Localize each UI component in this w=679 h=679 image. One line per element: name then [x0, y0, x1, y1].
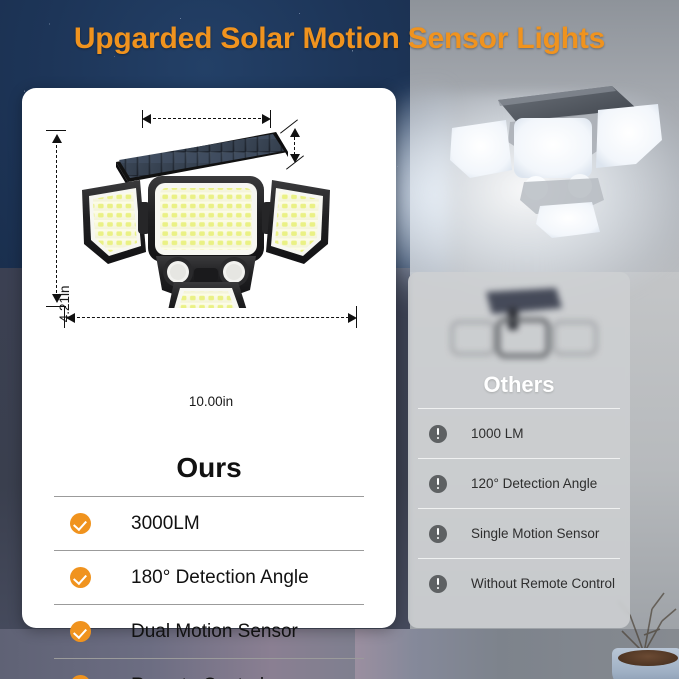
- dim-cap-left-bottom: [46, 306, 66, 307]
- others-feature-row: Single Motion Sensor: [418, 508, 620, 558]
- ours-feature-row: 180° Detection Angle: [54, 550, 364, 604]
- ours-feature-label: 3000LM: [131, 513, 200, 535]
- competitor-light-photo: [408, 282, 630, 370]
- others-feature-label: 120° Detection Angle: [471, 476, 597, 491]
- ours-feature-row: Remote Control: [54, 658, 364, 679]
- dim-line-width: [72, 317, 354, 318]
- dim-arrow-top-right: [262, 114, 271, 124]
- plant-soil: [618, 650, 678, 666]
- others-feature-row: Without Remote Control: [418, 558, 620, 608]
- ours-feature-label: Dual Motion Sensor: [131, 621, 298, 643]
- dim-arrow-height-up: [52, 134, 62, 143]
- others-heading: Others: [408, 372, 630, 398]
- ours-feature-list: 3000LM 180° Detection Angle Dual Motion …: [54, 496, 364, 679]
- others-feature-row: 120° Detection Angle: [418, 458, 620, 508]
- solar-light-illustration: [78, 128, 350, 308]
- check-circle-icon: [70, 675, 91, 679]
- ours-feature-row: Dual Motion Sensor: [54, 604, 364, 658]
- exclamation-circle-icon: [429, 475, 447, 493]
- others-feature-row: 1000 LM: [418, 408, 620, 458]
- ours-feature-label: 180° Detection Angle: [131, 567, 309, 589]
- page-title: Upgarded Solar Motion Sensor Lights: [0, 22, 679, 64]
- dim-cap-left-top: [46, 130, 66, 131]
- dim-arrow-top-left: [142, 114, 151, 124]
- others-feature-label: Without Remote Control: [471, 576, 615, 591]
- others-feature-list: 1000 LM 120° Detection Angle Single Moti…: [418, 408, 620, 608]
- dim-line-height: [56, 140, 57, 298]
- illuminated-lamp-photo: [440, 82, 666, 272]
- exclamation-circle-icon: [429, 525, 447, 543]
- dim-cap-bottom-left: [64, 306, 65, 328]
- dim-arrow-bottom-left: [66, 313, 75, 323]
- dim-line-top: [148, 118, 266, 119]
- others-feature-label: 1000 LM: [471, 426, 524, 441]
- check-circle-icon: [70, 513, 91, 534]
- others-comparison-card: Others 1000 LM 120° Detection Angle Sing…: [408, 272, 630, 628]
- dimension-label-width: 10.00in: [189, 394, 233, 409]
- ours-comparison-card: 5.59in 3.15in 4.21in 10.00in: [22, 88, 396, 628]
- ours-feature-label: Remote Control: [131, 675, 264, 679]
- exclamation-circle-icon: [429, 425, 447, 443]
- others-feature-label: Single Motion Sensor: [471, 526, 599, 541]
- dim-arrow-height-down: [52, 294, 62, 303]
- ours-heading: Ours: [22, 452, 396, 484]
- exclamation-circle-icon: [429, 575, 447, 593]
- product-dimension-diagram: 5.59in 3.15in 4.21in 10.00in: [22, 88, 396, 346]
- check-circle-icon: [70, 567, 91, 588]
- dim-arrow-bottom-right: [348, 313, 357, 323]
- ours-feature-row: 3000LM: [54, 496, 364, 550]
- check-circle-icon: [70, 621, 91, 642]
